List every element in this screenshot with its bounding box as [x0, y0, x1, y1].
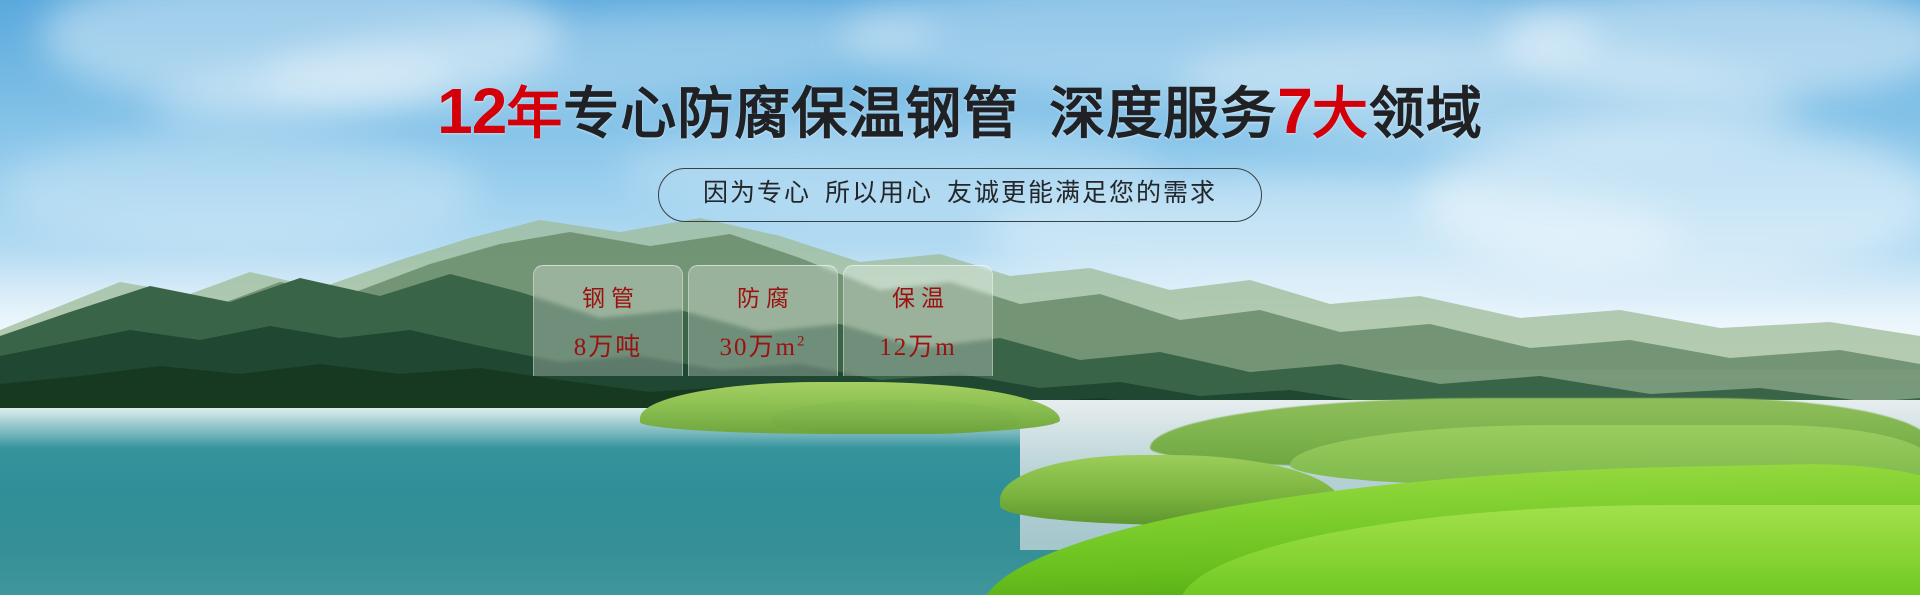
stat-card-value: 8万吨: [574, 327, 643, 363]
stat-card-steel-pipe[interactable]: 钢管 8万吨: [533, 265, 683, 376]
headline-years-number: 12: [437, 75, 506, 147]
headline-segment-3: 领域: [1369, 82, 1483, 145]
headline-years-unit: 年: [506, 82, 563, 145]
subtitle-part-2: 所以用心: [825, 179, 933, 207]
headline: 12年专心防腐保温钢管深度服务7大领域: [0, 79, 1920, 143]
subtitle-container: 因为专心所以用心友诚更能满足您的需求: [0, 168, 1920, 222]
headline-fields-unit: 大: [1312, 82, 1369, 145]
stat-card-value-text: 8万吨: [574, 334, 643, 361]
stat-card-title: 保温: [886, 279, 950, 313]
grass-island-inner: [770, 400, 1020, 434]
stat-card-anticorrosion[interactable]: 防腐 30万m2: [688, 265, 838, 376]
headline-segment-1: 专心防腐保温钢管: [563, 82, 1019, 145]
stat-card-value-sup: 2: [797, 334, 807, 350]
subtitle-pill: 因为专心所以用心友诚更能满足您的需求: [658, 168, 1262, 222]
subtitle-part-3: 友诚更能满足您的需求: [947, 179, 1217, 207]
stat-card-value-text: 30万m: [720, 334, 797, 361]
stat-card-title: 防腐: [731, 279, 795, 313]
stat-card-group: 钢管 8万吨 防腐 30万m2 保温 12万m: [533, 265, 993, 376]
subtitle-part-1: 因为专心: [703, 179, 811, 207]
stat-card-value: 30万m2: [720, 327, 807, 363]
stat-card-title: 钢管: [576, 279, 640, 313]
headline-fields-number: 7: [1277, 75, 1312, 147]
stat-card-insulation[interactable]: 保温 12万m: [843, 265, 993, 376]
headline-segment-2: 深度服务: [1049, 82, 1277, 145]
stat-card-value-text: 12万m: [879, 334, 956, 361]
stat-card-value: 12万m: [879, 327, 956, 363]
hero-banner: 12年专心防腐保温钢管深度服务7大领域 因为专心所以用心友诚更能满足您的需求 钢…: [0, 0, 1920, 595]
